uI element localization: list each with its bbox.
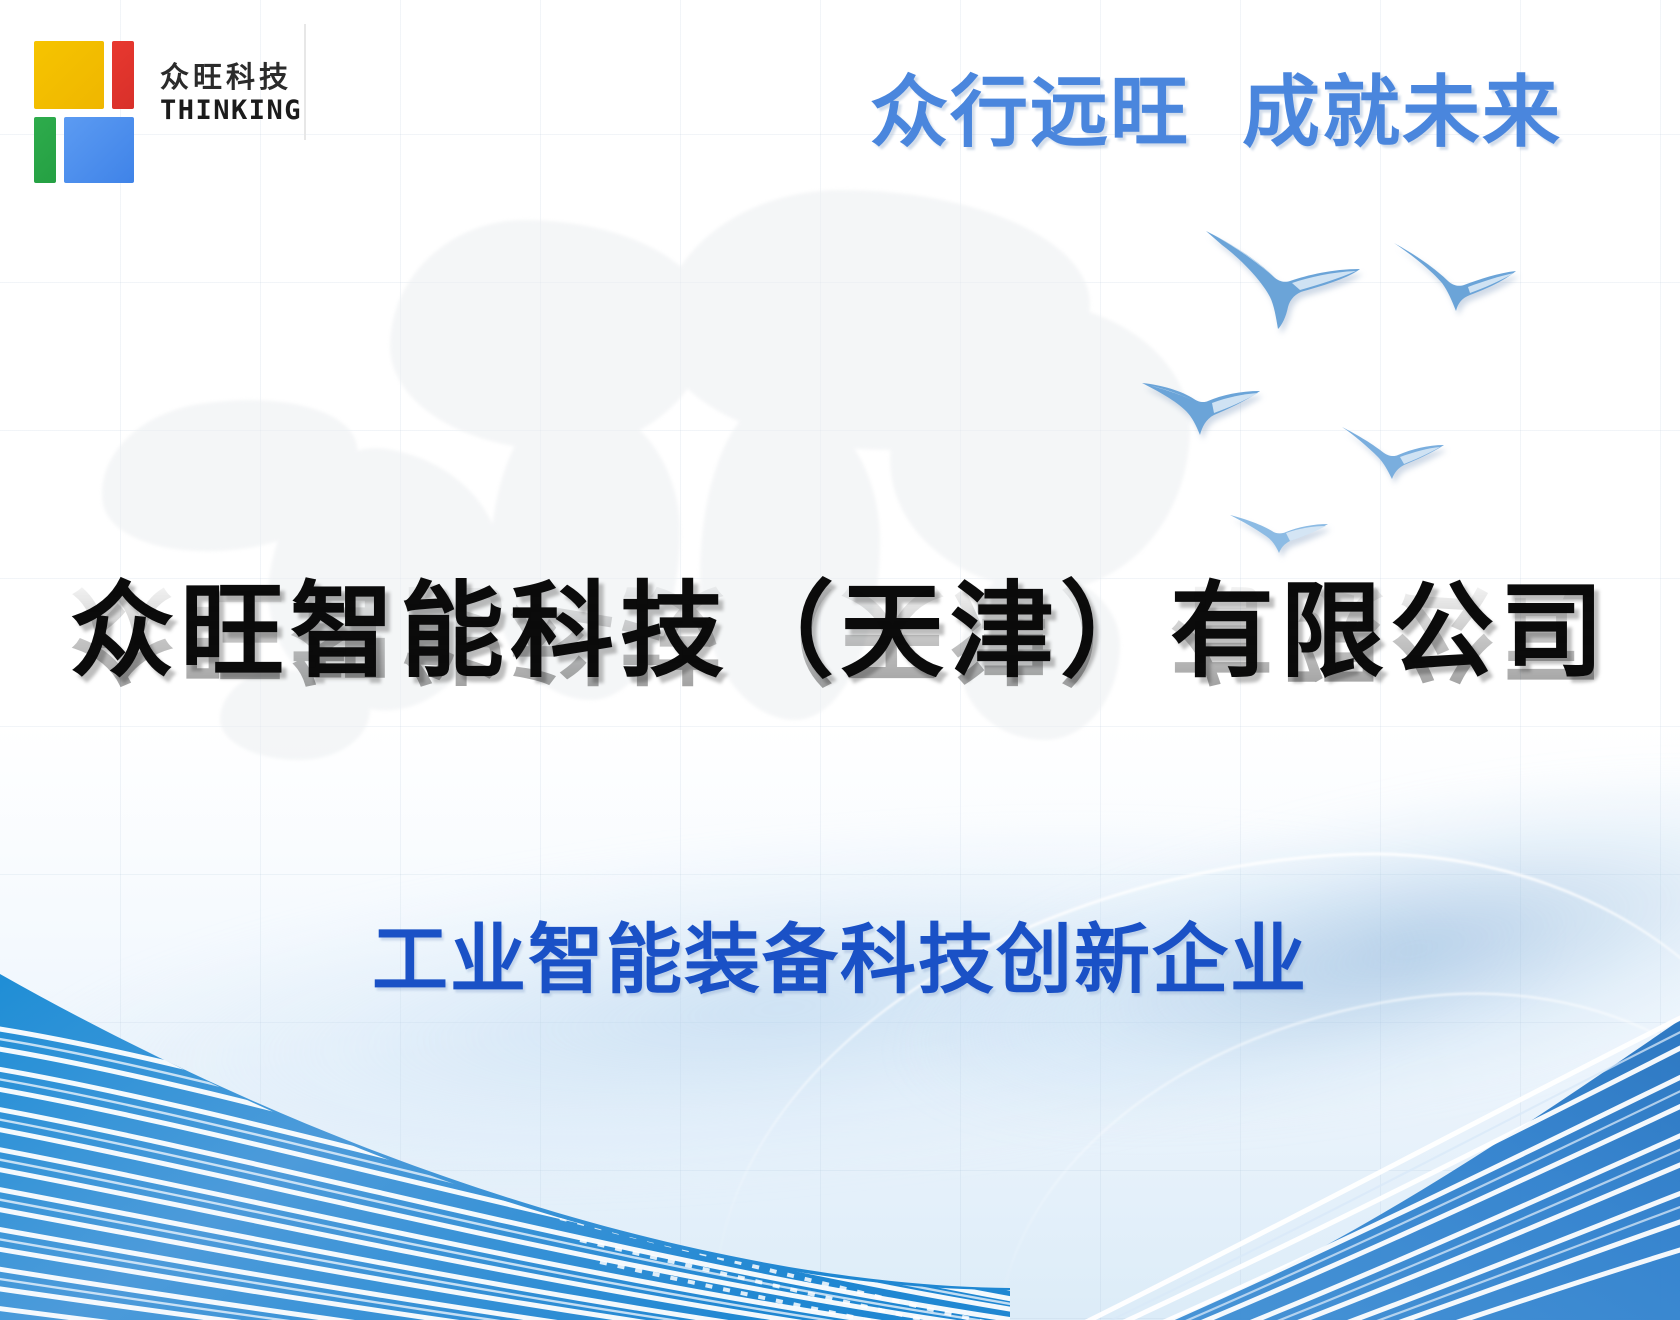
page-subtitle: 工业智能装备科技创新企业 <box>0 898 1680 1008</box>
page-title-reflection: 众旺智能科技（天津）有限公司 <box>0 568 1680 688</box>
logo-green-tile-icon <box>34 117 56 183</box>
logo-blue-tile-icon <box>64 117 134 183</box>
seagull-icon-1 <box>1200 225 1375 330</box>
slogan-part-1: 众行远旺 <box>870 68 1190 156</box>
seagull-icon-2 <box>1390 239 1520 317</box>
logo-name-en: THINKING <box>160 97 302 124</box>
logo-red-tile-icon <box>112 41 134 109</box>
logo-yellow-tile-icon <box>34 41 104 109</box>
seagull-flock-decoration <box>1140 195 1670 615</box>
company-logo[interactable]: 众旺科技 THINKING <box>30 28 330 160</box>
slogan-part-2: 成就未来 <box>1242 68 1562 156</box>
logo-divider <box>304 24 306 140</box>
seagull-icon-5 <box>1228 511 1332 555</box>
seagull-icon-4 <box>1340 425 1448 483</box>
seagull-icon-3 <box>1140 373 1265 445</box>
title-slide: 众旺科技 THINKING 众行远旺成就未来 <box>0 0 1680 1320</box>
bottom-right-wave-decoration <box>920 990 1680 1320</box>
bottom-left-wave-decoration <box>0 968 1010 1320</box>
title-block: 众旺智能科技（天津）有限公司 众旺智能科技（天津）有限公司 <box>0 576 1680 808</box>
logo-name-cn: 众旺科技 <box>160 64 302 93</box>
logo-mark-icon <box>30 35 138 153</box>
slogan: 众行远旺成就未来 <box>870 50 1562 162</box>
logo-wordmark: 众旺科技 THINKING <box>160 64 302 124</box>
